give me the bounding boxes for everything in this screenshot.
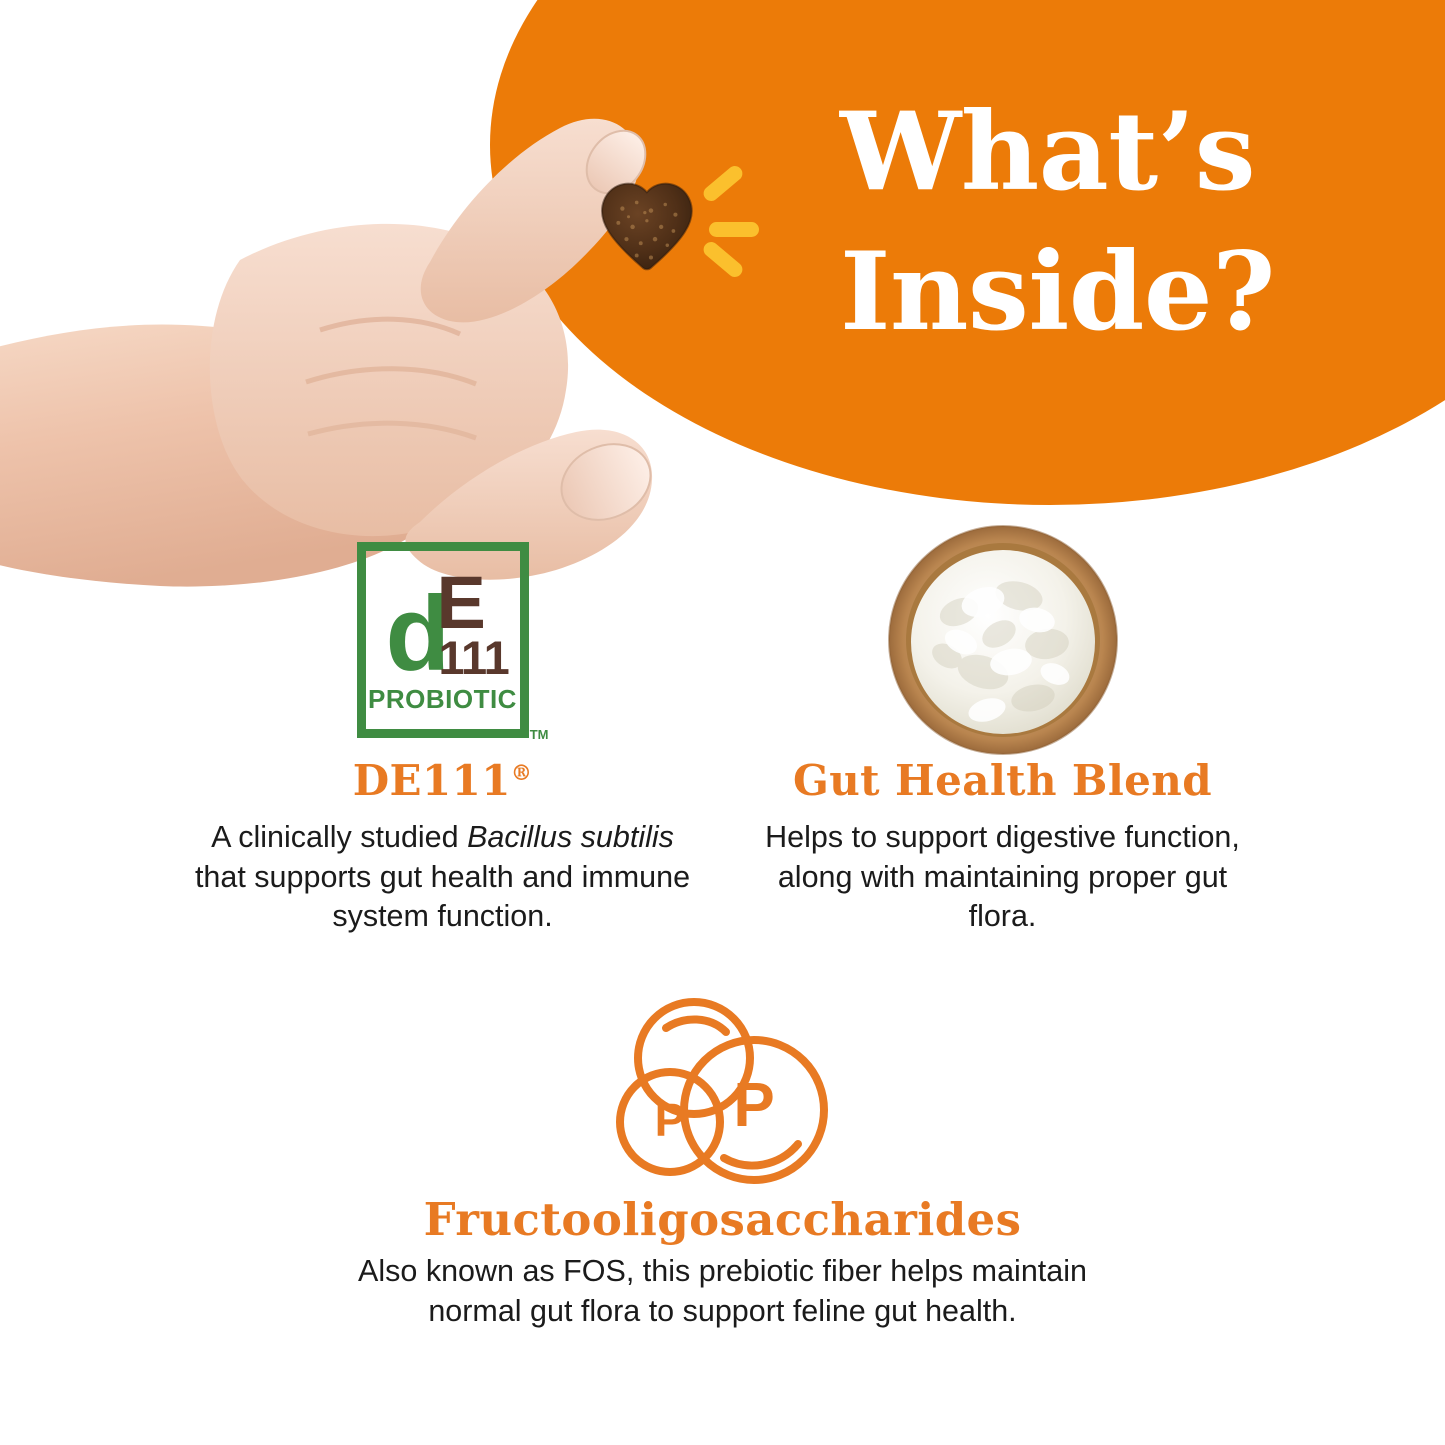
bowl-of-white-powder-icon [887,524,1119,756]
card-body-de111-species: Bacillus subtilis [467,820,674,854]
card-de111: d E 111 PROBIOTIC TM DE111® A clinically… [163,520,723,937]
page-title-line-2: Inside? [840,222,1400,362]
cards-row-top: d E 111 PROBIOTIC TM DE111® A clinically… [0,520,1445,937]
sparkle-dash-icon [709,222,759,237]
card-title-gut-health-blend: Gut Health Blend [723,760,1283,802]
card-fructooligosaccharides: P P Fructooligosaccharides Also known as… [313,983,1133,1331]
card-body-de111-after: that supports gut health and immune syst… [195,860,690,934]
infographic-canvas: What’s Inside? [0,0,1445,1445]
card-body-gut-health-blend: Helps to support digestive function, alo… [743,818,1263,937]
logo-word-probiotic: PROBIOTIC [357,686,529,712]
card-body-de111: A clinically studied Bacillus subtilis t… [183,818,703,937]
fos-icon-box: P P [313,983,1133,1197]
logo-trademark-mark: TM [530,727,549,742]
de111-probiotic-logo-icon: d E 111 PROBIOTIC TM [357,542,529,738]
logo-number-111: 111 [439,634,509,681]
card-title-de111-text: DE111 [353,756,511,805]
card-body-de111-before: A clinically studied [211,820,467,854]
card-body-fructooligosaccharides: Also known as FOS, this prebiotic fiber … [323,1252,1123,1331]
cards-row-bottom: P P Fructooligosaccharides Also known as… [0,983,1445,1331]
card-gut-health-blend: Gut Health Blend Helps to support digest… [723,520,1283,937]
prebiotic-circles-icon: P P [608,990,838,1190]
logo-letter-e: E [437,566,486,640]
fos-icon-letter-p: P [654,1094,685,1146]
card-title-de111: DE111® [163,760,723,802]
de111-logo-box: d E 111 PROBIOTIC TM [163,520,723,760]
ingredient-cards: d E 111 PROBIOTIC TM DE111® A clinically… [0,520,1445,1331]
card-title-fructooligosaccharides: Fructooligosaccharides [313,1197,1133,1242]
page-title: What’s Inside? [840,82,1400,363]
bowl-icon-box [723,520,1283,760]
page-title-line-1: What’s [840,89,1255,215]
registered-mark: ® [511,760,532,785]
fos-icon-letter-p: P [733,1071,774,1140]
